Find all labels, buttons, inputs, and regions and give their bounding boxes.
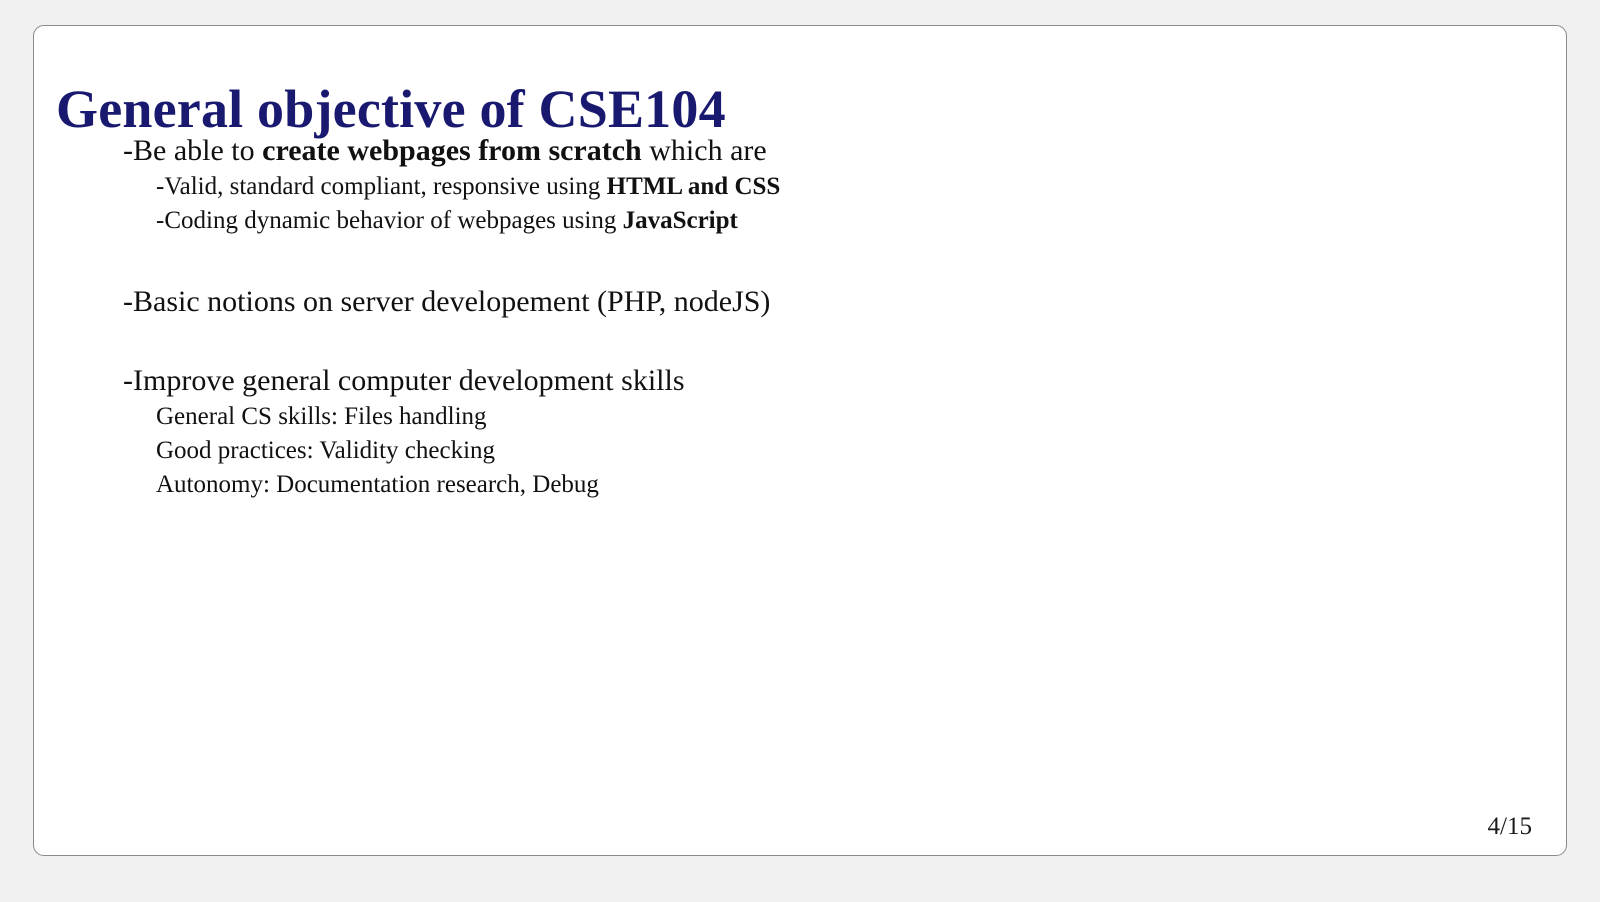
body-text: Valid, standard compliant, responsive us… xyxy=(164,173,606,200)
bullet-block: - Be able to create webpages from scratc… xyxy=(34,131,1566,238)
body-text: Coding dynamic behavior of webpages usin… xyxy=(164,207,622,234)
emphasis-text: HTML and CSS xyxy=(607,173,781,200)
bullet-level1: - Basic notions on server developement (… xyxy=(34,282,1566,321)
bullet-level2: General CS skills: Files handling xyxy=(34,400,1566,434)
body-text: General CS skills: Files handling xyxy=(156,403,487,430)
bullet-level1: - Be able to create webpages from scratc… xyxy=(34,131,1566,170)
body-text: Be able to xyxy=(133,134,262,167)
body-text: Improve general computer development ski… xyxy=(133,364,685,397)
block-spacer xyxy=(34,321,1566,361)
slide-frame: General objective of CSE104 - Be able to… xyxy=(33,25,1567,856)
bullet-block: - Basic notions on server developement (… xyxy=(34,282,1566,321)
bullet-level1: - Improve general computer development s… xyxy=(34,361,1566,400)
bullet-dash-icon: - xyxy=(123,282,133,321)
block-spacer xyxy=(34,238,1566,282)
bullet-dash-icon: - xyxy=(123,361,133,400)
page-number: 4/15 xyxy=(1488,813,1532,841)
emphasis-text: create webpages from scratch xyxy=(262,134,642,167)
bullet-level2: - Coding dynamic behavior of webpages us… xyxy=(34,204,1566,238)
body-text: Basic notions on server developement (PH… xyxy=(133,285,770,318)
body-text: which are xyxy=(642,134,767,167)
body-text: Good practices: Validity checking xyxy=(156,437,495,464)
bullet-level2: Good practices: Validity checking xyxy=(34,434,1566,468)
emphasis-text: JavaScript xyxy=(623,207,738,234)
bullet-level2: Autonomy: Documentation research, Debug xyxy=(34,468,1566,502)
bullet-level2: - Valid, standard compliant, responsive … xyxy=(34,170,1566,204)
body-text: Autonomy: Documentation research, Debug xyxy=(156,471,599,498)
slide-body: - Be able to create webpages from scratc… xyxy=(34,131,1566,502)
slide-title: General objective of CSE104 xyxy=(56,80,726,138)
bullet-dash-icon: - xyxy=(123,131,133,170)
bullet-block: - Improve general computer development s… xyxy=(34,361,1566,502)
